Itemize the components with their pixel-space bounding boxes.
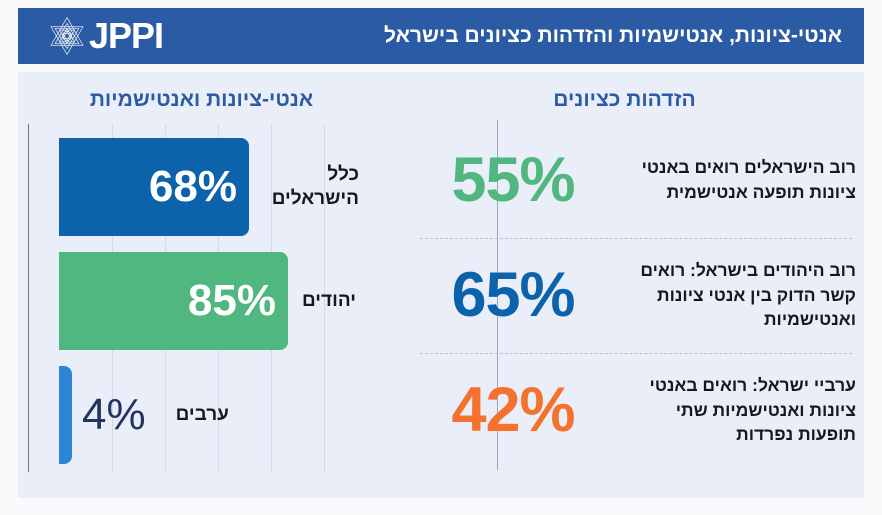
- bar-category-label: יהודים: [302, 289, 356, 313]
- bar-category-label: ערבים: [176, 403, 229, 427]
- bar-category-label: כלל הישראלים: [263, 163, 359, 211]
- content-card: הזדהות כציונים אנטי-ציונות ואנטישמיות רו…: [18, 72, 864, 498]
- bar-value: 85%: [188, 279, 276, 323]
- brand-name: JPPI: [89, 18, 163, 54]
- stat-description: ערביי ישראל: רואים באנטי ציונות ואנטישמי…: [618, 373, 856, 448]
- header-bar: JPPI אנטי-ציונות, אנטישמיות והזדהות כציו…: [18, 8, 864, 64]
- stat-description: רוב הישראלים רואים באנטי ציונות תופעה אנ…: [618, 155, 856, 205]
- bar-chart: 68% כלל הישראלים 85% יהודים 4% ערבים: [18, 124, 497, 484]
- section-title-antizionism: אנטי-ציונות ואנטישמיות: [18, 88, 385, 112]
- chart-plot-area: 68% כלל הישראלים 85% יהודים 4% ערבים: [28, 124, 397, 472]
- bar: [59, 366, 72, 464]
- bar: 68%: [59, 138, 249, 236]
- stat-description: רוב היהודים בישראל: רואים קשר הדוק בין א…: [618, 258, 856, 333]
- bar: 85%: [59, 252, 288, 350]
- bar-row: 85% יהודים: [28, 252, 397, 350]
- star-of-david-icon: [46, 15, 88, 57]
- bar-value: 4%: [82, 393, 146, 437]
- bar-row: 4% ערבים: [28, 366, 397, 464]
- bar-row: 68% כלל הישראלים: [28, 138, 397, 236]
- brand-logo: JPPI: [46, 15, 163, 57]
- bar-value: 68%: [149, 165, 237, 209]
- section-title-identification: הזדהות כציונים: [385, 88, 864, 112]
- infographic-page: JPPI אנטי-ציונות, אנטישמיות והזדהות כציו…: [0, 0, 882, 515]
- page-title: אנטי-ציונות, אנטישמיות והזדהות כציונים ב…: [384, 24, 842, 48]
